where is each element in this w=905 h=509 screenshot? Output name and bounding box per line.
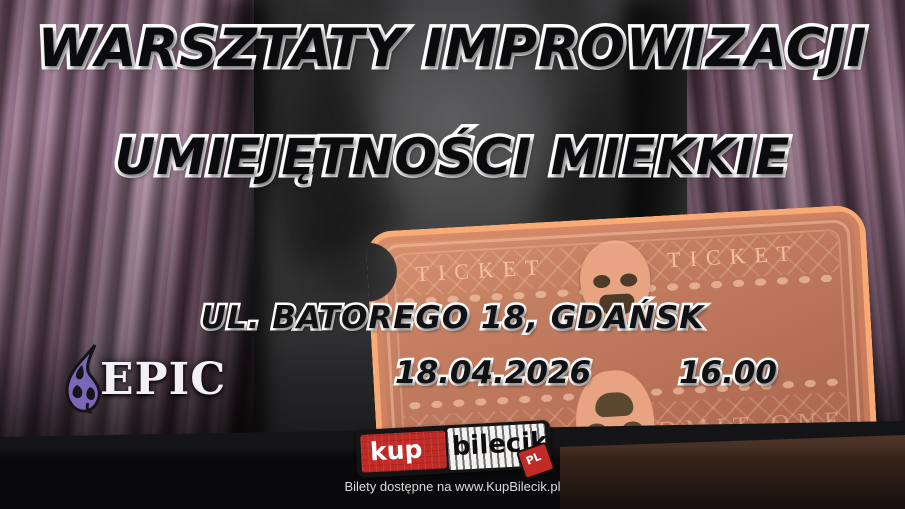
epic-flame-icon <box>62 343 106 415</box>
epic-logo: EPIC <box>62 343 226 415</box>
epic-logo-text: EPIC <box>100 354 226 405</box>
kupbilecik-text-kup: kup <box>369 435 423 467</box>
event-date-time-row: 18.04.2026 16.00 <box>395 355 795 391</box>
kupbilecik-logo[interactable]: kup bilecik PL <box>355 420 552 478</box>
poster-title-line-2: UMIEJĘTNOŚCI MIEKKIE <box>0 128 905 186</box>
event-venue: UL. BATOREGO 18, GDAŃSK <box>0 300 905 336</box>
kupbilecik-tld-text: PL <box>524 450 543 468</box>
event-date: 18.04.2026 <box>395 355 591 391</box>
event-poster: WARSZTATY IMPROWIZACJI UMIEJĘTNOŚCI MIEK… <box>0 0 905 509</box>
footer-note: Bilety dostępne na www.KupBilecik.pl <box>0 479 905 494</box>
poster-title-line-1: WARSZTATY IMPROWIZACJI <box>0 18 905 79</box>
event-time: 16.00 <box>679 355 795 391</box>
